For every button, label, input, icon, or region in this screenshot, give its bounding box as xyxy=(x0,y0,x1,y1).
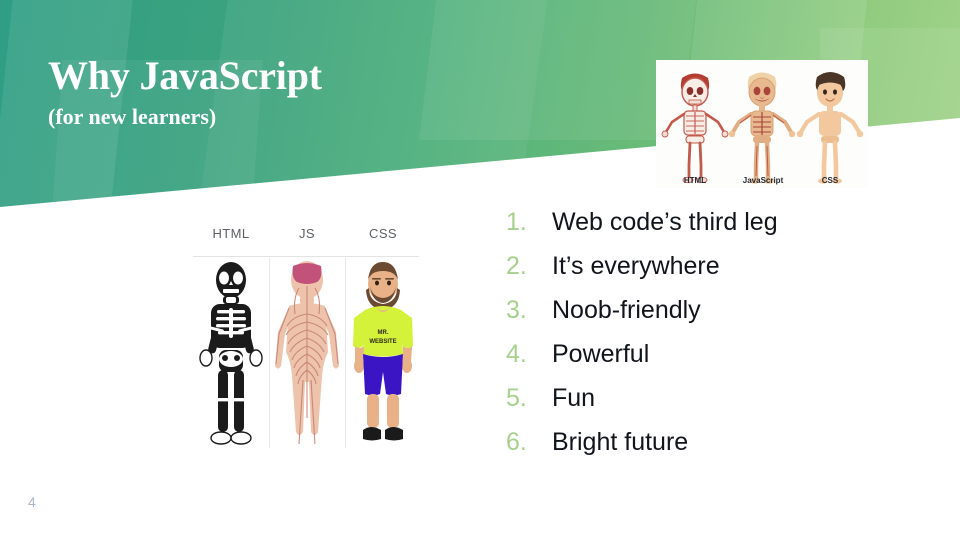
shirt-text-line2: WEBSITE xyxy=(369,339,396,345)
list-item-number: 3. xyxy=(506,296,552,325)
dressed-person-graphic: MR. WEBSITE xyxy=(345,258,421,450)
list-item: 4. Powerful xyxy=(506,340,778,384)
list-item: 6. Bright future xyxy=(506,428,778,472)
shirt-text-line1: MR. xyxy=(378,330,389,336)
page-number: 4 xyxy=(28,494,36,510)
slide: Why JavaScript (for new learners) xyxy=(0,0,960,540)
list-item-number: 1. xyxy=(506,208,552,237)
title-block: Why JavaScript (for new learners) xyxy=(48,54,322,131)
skeleton-graphic xyxy=(193,258,269,450)
list-item-text: Fun xyxy=(552,384,595,413)
figure-left-divider xyxy=(193,256,419,257)
nervous-system-graphic xyxy=(269,258,345,450)
list-item-text: Bright future xyxy=(552,428,688,457)
list-item-text: Noob-friendly xyxy=(552,296,701,325)
page-title: Why JavaScript xyxy=(48,54,322,97)
figure-left-label-html: HTML xyxy=(193,226,269,241)
figure-top-label-javascript: JavaScript xyxy=(730,176,796,185)
list-item-number: 6. xyxy=(506,428,552,457)
body-layers-comparison-image: HTML JS CSS xyxy=(189,222,421,454)
figure-left-label-css: CSS xyxy=(345,226,421,241)
numbered-list: 1. Web code’s third leg 2. It’s everywhe… xyxy=(506,208,778,472)
list-item: 1. Web code’s third leg xyxy=(506,208,778,252)
list-item: 5. Fun xyxy=(506,384,778,428)
figure-left-label-js: JS xyxy=(269,226,345,241)
cartoon-figures-graphic xyxy=(656,60,868,188)
list-item-text: Web code’s third leg xyxy=(552,208,778,237)
list-item-number: 2. xyxy=(506,252,552,281)
figure-top-label-html: HTML xyxy=(664,176,726,185)
three-cartoon-figures-image: HTML JavaScript CSS xyxy=(656,60,868,188)
list-item-text: It’s everywhere xyxy=(552,252,720,281)
figure-top-label-css: CSS xyxy=(800,176,860,185)
list-item-number: 4. xyxy=(506,340,552,369)
page-subtitle: (for new learners) xyxy=(48,104,322,130)
list-item: 2. It’s everywhere xyxy=(506,252,778,296)
list-item: 3. Noob-friendly xyxy=(506,296,778,340)
list-item-text: Powerful xyxy=(552,340,649,369)
list-item-number: 5. xyxy=(506,384,552,413)
